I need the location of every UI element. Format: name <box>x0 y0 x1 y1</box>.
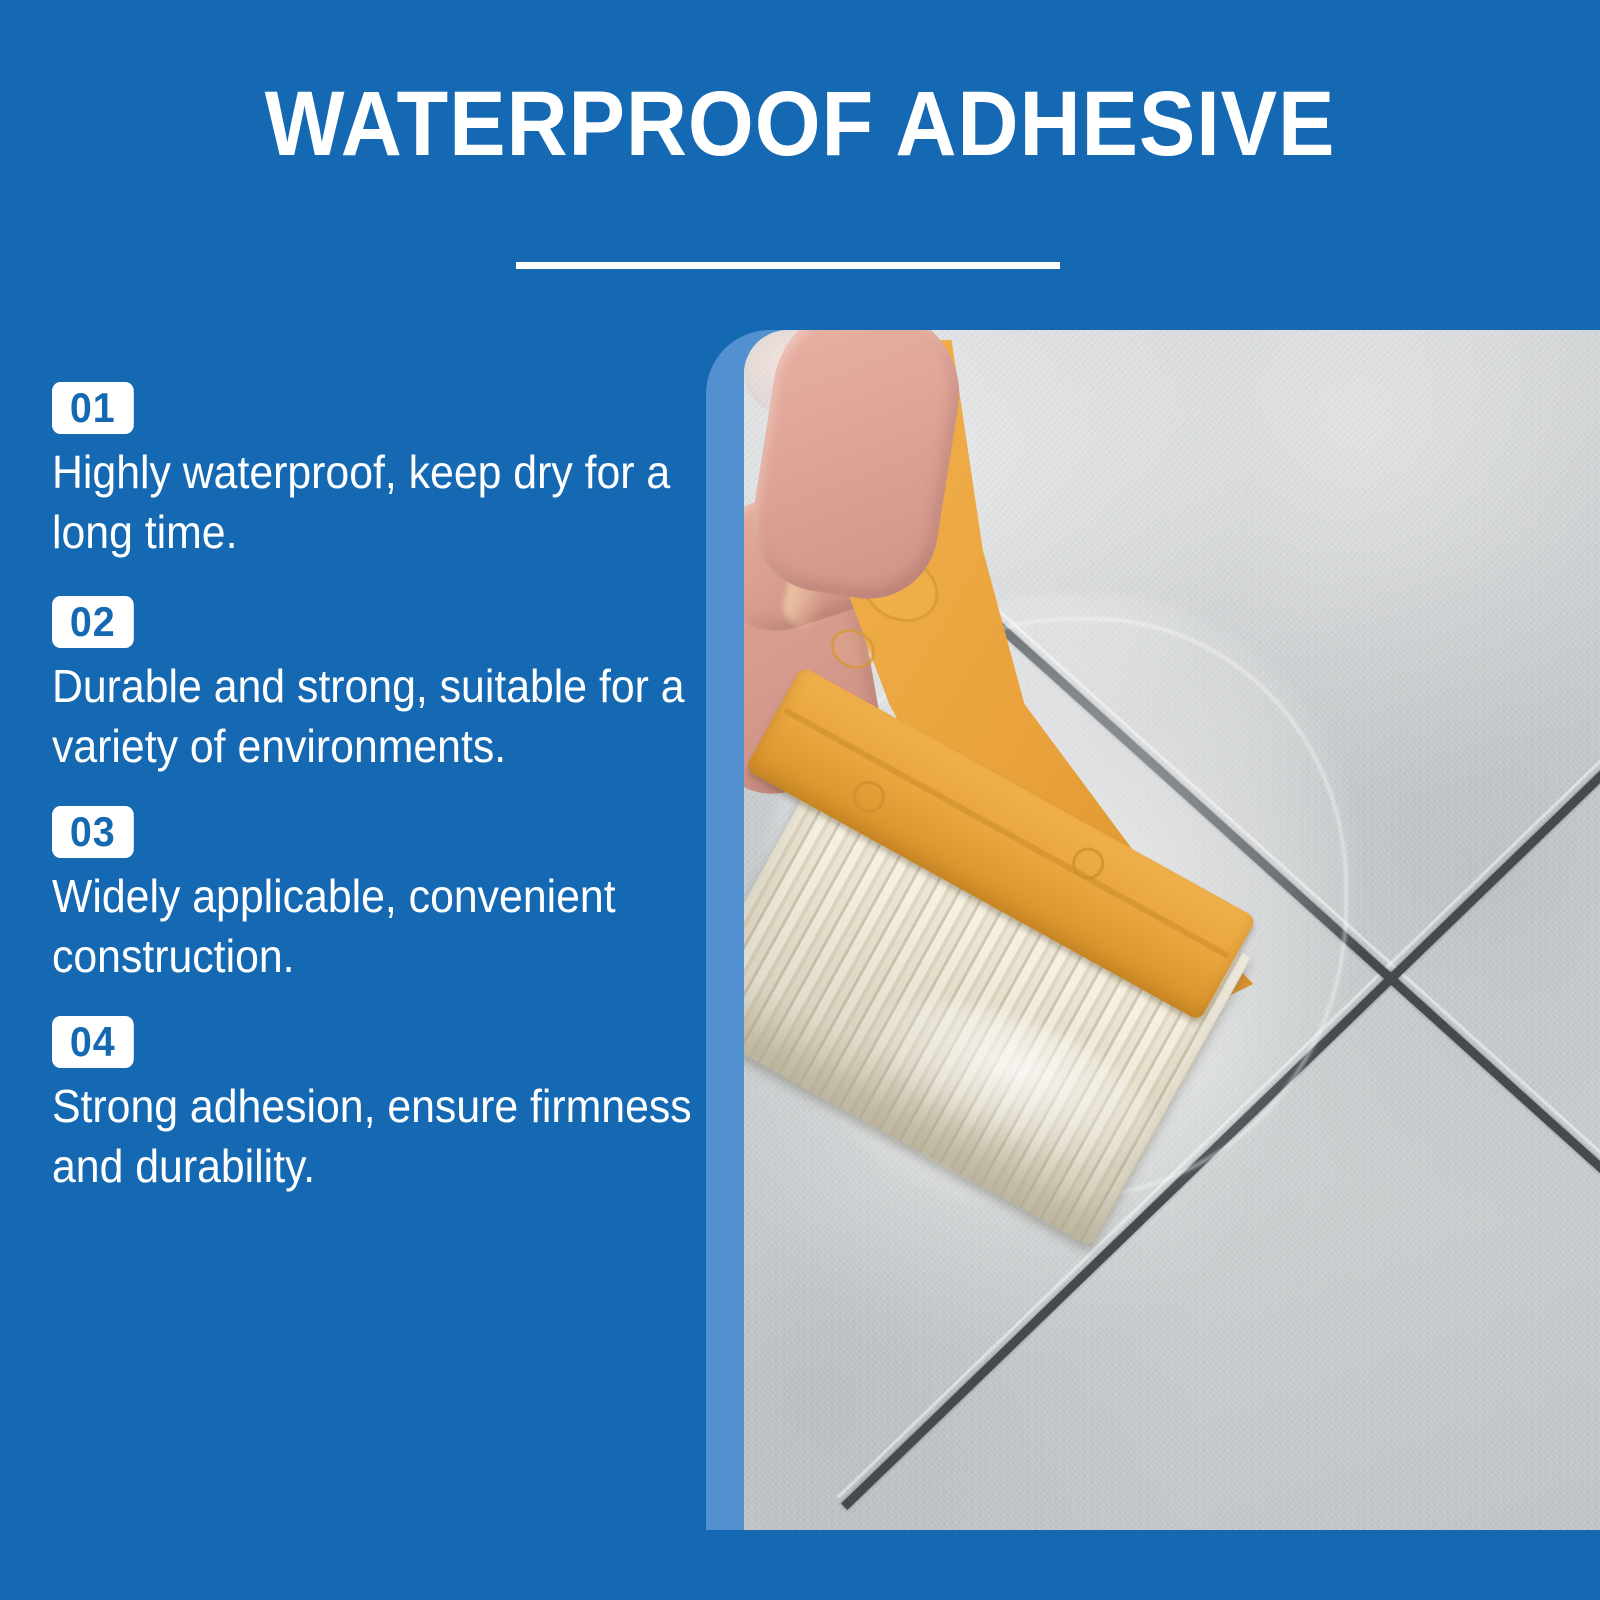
brush-assembly <box>744 330 1600 1530</box>
feature-text-01: Highly waterproof, keep dry for a long t… <box>52 442 703 562</box>
feature-badge-02: 02 <box>52 596 134 648</box>
feature-text-04: Strong adhesion, ensure firmness and dur… <box>52 1076 703 1196</box>
feature-badge-04: 04 <box>52 1016 134 1068</box>
feature-item-01: 01 Highly waterproof, keep dry for a lon… <box>52 382 692 562</box>
feature-item-02: 02 Durable and strong, suitable for a va… <box>52 596 692 776</box>
feature-text-03: Widely applicable, convenient constructi… <box>52 866 703 986</box>
product-photo <box>744 330 1600 1530</box>
feature-list: 01 Highly waterproof, keep dry for a lon… <box>52 382 692 1230</box>
feature-item-04: 04 Strong adhesion, ensure firmness and … <box>52 1016 692 1196</box>
feature-badge-01: 01 <box>52 382 134 434</box>
title-divider <box>516 262 1060 269</box>
brush-ferrule-dot-2 <box>1066 842 1110 886</box>
infographic-page: WATERPROOF ADHESIVE 01 Highly waterproof… <box>0 0 1600 1600</box>
product-photo-frame <box>706 330 1600 1530</box>
feature-badge-03: 03 <box>52 806 134 858</box>
feature-item-03: 03 Widely applicable, convenient constru… <box>52 806 692 986</box>
page-title: WATERPROOF ADHESIVE <box>64 78 1536 170</box>
title-block: WATERPROOF ADHESIVE <box>0 78 1600 170</box>
brush-ferrule-dot-1 <box>847 775 891 819</box>
feature-text-02: Durable and strong, suitable for a varie… <box>52 656 703 776</box>
